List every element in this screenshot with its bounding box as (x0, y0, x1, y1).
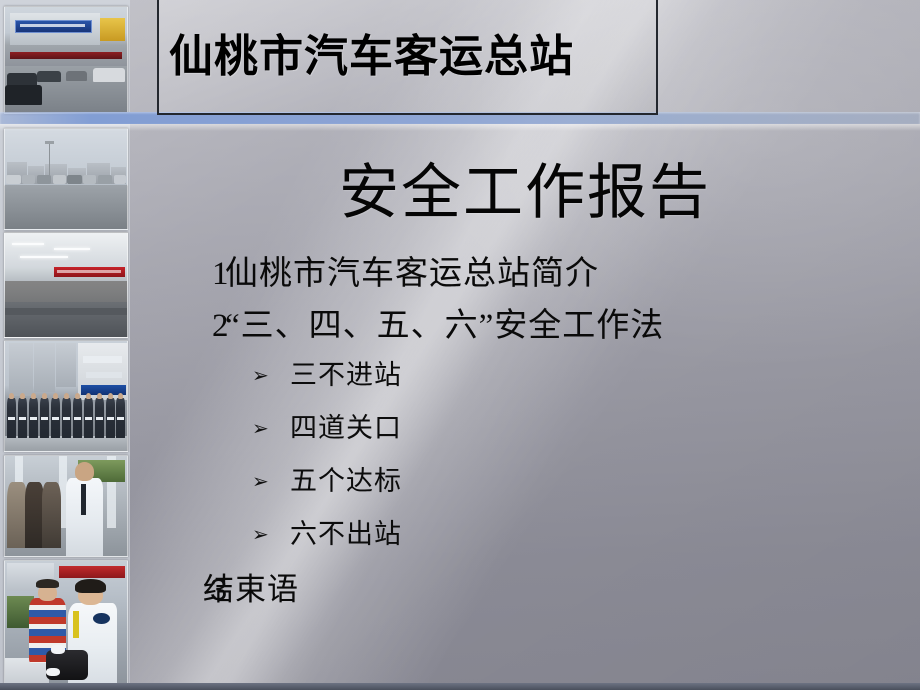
red-awning-shape (10, 52, 122, 59)
ceiling-light-shape (12, 243, 44, 245)
agenda-subitem-five-standards[interactable]: ➢ 五个达标 (130, 468, 920, 495)
uniformed-staff-shape (7, 398, 16, 438)
car-shape (5, 85, 42, 104)
agenda-subitem-label: 三不进站 (290, 362, 402, 389)
red-banner-shape (54, 267, 125, 276)
coach-shape (37, 175, 52, 184)
coach-shape (6, 175, 21, 184)
tarmac-shape (5, 185, 127, 229)
agenda-item-number: 1 (130, 258, 225, 291)
tower-block-shape (9, 343, 33, 396)
signboard-shape (86, 372, 123, 379)
lanyard-shape (73, 611, 79, 638)
seat-row-shape (5, 308, 127, 315)
page-title: 安全工作报告 (130, 163, 920, 223)
ceiling-shape (5, 233, 127, 268)
agenda-item-1[interactable]: 1 仙桃市汽车客运总站简介 (130, 258, 920, 291)
coach-shape (98, 175, 113, 184)
agenda-item-label: 仙桃市汽车客运总站简介 (225, 258, 599, 291)
bottom-bar (0, 683, 920, 690)
agenda-subitem-label: 六不出站 (290, 521, 402, 548)
car-shape (66, 71, 87, 82)
tower-block-shape (34, 343, 55, 391)
uniformed-staff-shape (73, 398, 82, 438)
station-name: 仙桃市汽车客运总站 (169, 35, 574, 79)
tower-block-shape (56, 343, 76, 387)
agenda-list: 1 仙桃市汽车客运总站简介 2 “三、四、五、六”安全工作法 ➢ 三不进站 ➢ … (130, 258, 920, 624)
ceiling-light-shape (20, 256, 69, 258)
car-shape (37, 71, 61, 83)
agenda-item-label: “三、四、五、六”安全工作法 (225, 310, 664, 343)
agenda-subitem-label: 五个达标 (290, 468, 402, 495)
agenda-subitem-three-no-entry[interactable]: ➢ 三不进站 (130, 362, 920, 389)
photo-staff-lineup (4, 340, 128, 452)
uniformed-staff-shape (106, 398, 115, 438)
white-glove-shape (46, 668, 59, 677)
arrow-bullet-icon: ➢ (130, 365, 252, 385)
arrow-bullet-icon: ➢ (130, 418, 252, 438)
presentation-slide: 仙桃市汽车客运总站 安全工作报告 1 仙桃市汽车客运总站简介 2 “三、四、五、… (0, 0, 920, 690)
uniformed-staff-shape (51, 398, 60, 438)
yellow-sign-shape (100, 18, 124, 41)
blue-banner-shape (15, 20, 93, 34)
ceiling-light-shape (54, 248, 91, 250)
agenda-item-label: 结束语 (203, 574, 299, 605)
coach-shape (83, 175, 96, 184)
photo-security-officer (4, 455, 128, 557)
coach-shape (114, 175, 126, 184)
red-banner-shape (59, 566, 125, 578)
arrow-bullet-icon: ➢ (130, 471, 252, 491)
agenda-item-2[interactable]: 2 “三、四、五、六”安全工作法 (130, 310, 920, 343)
uniformed-staff-shape (18, 398, 27, 438)
signboard-shape (83, 356, 122, 363)
coach-shape (22, 175, 35, 184)
ground-shape (5, 436, 127, 451)
uniformed-staff-shape (40, 398, 49, 438)
photo-waiting-hall (4, 232, 128, 338)
white-glove-shape (51, 645, 64, 654)
arrow-bullet-icon: ➢ (130, 524, 252, 544)
agenda-item-number: 2 (130, 310, 225, 343)
officer-white-uniform-shape (66, 478, 103, 556)
agenda-subitem-six-no-departure[interactable]: ➢ 六不出站 (130, 521, 920, 548)
coach-shape (67, 175, 82, 184)
uniformed-staff-shape (29, 398, 38, 438)
car-shape (93, 68, 125, 82)
uniformed-staff-shape (84, 398, 93, 438)
photo-strip (0, 0, 130, 690)
accent-band-glow (0, 124, 920, 131)
agenda-subitem-four-checkpoints[interactable]: ➢ 四道关口 (130, 415, 920, 442)
station-title-box: 仙桃市汽车客运总站 (157, 0, 658, 115)
uniformed-staff-shape (116, 398, 125, 438)
uniformed-staff-shape (95, 398, 104, 438)
photo-bus-station-facade (4, 6, 128, 114)
car-shape (7, 73, 36, 87)
passenger-shape (42, 482, 62, 548)
uniformed-staff-shape (62, 398, 71, 438)
agenda-subitem-label: 四道关口 (290, 415, 402, 442)
coach-shape (53, 175, 66, 184)
photo-bag-inspection (4, 560, 128, 686)
agenda-item-3[interactable]: 3 结束语 (130, 574, 920, 605)
photo-parking-lot (4, 128, 128, 230)
